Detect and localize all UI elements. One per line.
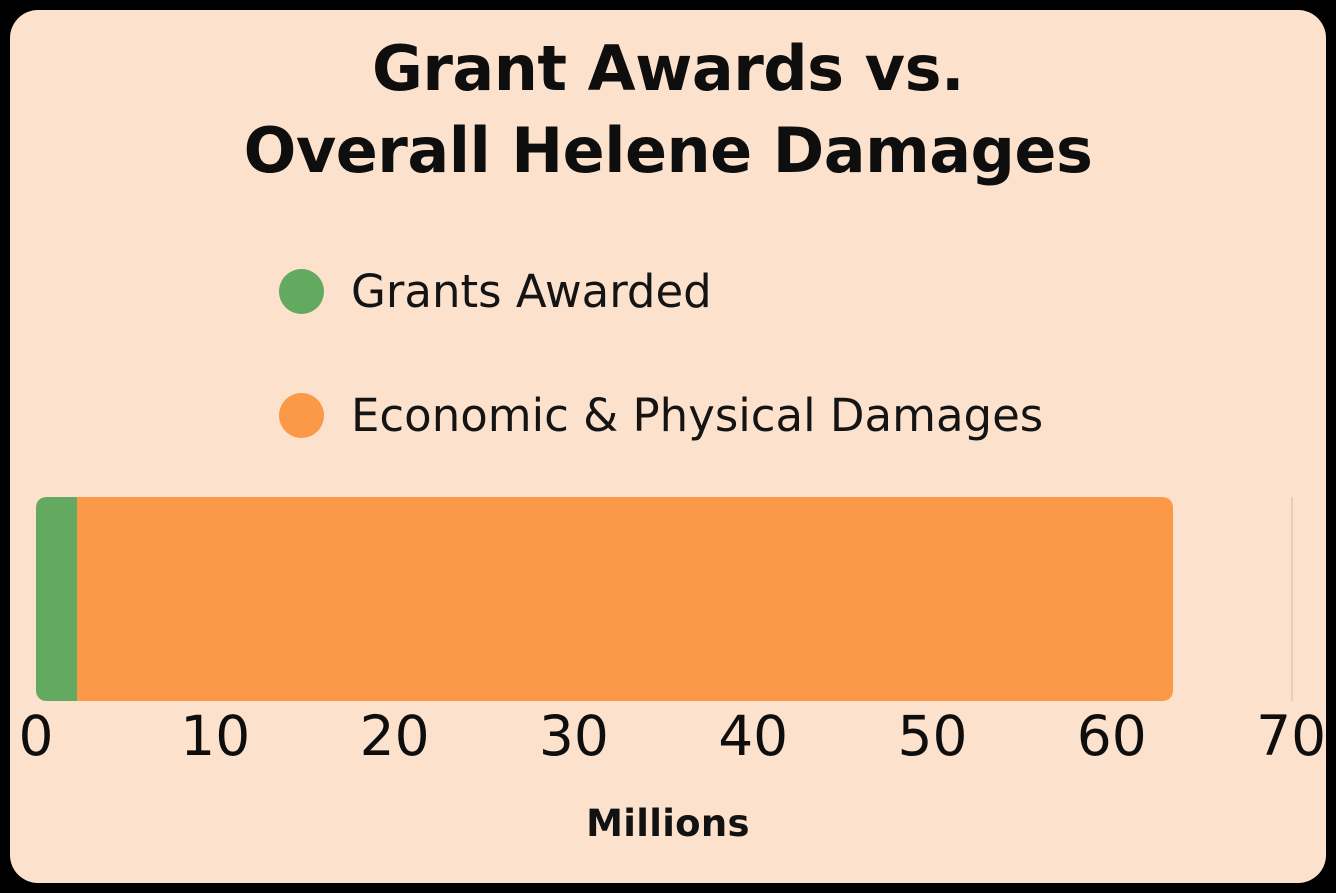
gridline bbox=[1291, 497, 1293, 701]
bar-segment[interactable] bbox=[36, 497, 77, 701]
x-axis-title: Millions bbox=[10, 802, 1326, 845]
bar-segment[interactable] bbox=[77, 497, 1173, 701]
x-tick-label: 50 bbox=[898, 707, 968, 765]
bar-track bbox=[36, 497, 1173, 701]
x-tick-label: 70 bbox=[1256, 707, 1326, 765]
x-tick-label: 20 bbox=[360, 707, 430, 765]
plot-area: 010203040506070 bbox=[10, 10, 1326, 883]
stacked-bar[interactable] bbox=[36, 497, 1173, 701]
chart-panel: Grant Awards vs. Overall Helene Damages … bbox=[10, 10, 1326, 883]
x-tick-label: 0 bbox=[19, 707, 54, 765]
x-tick-label: 30 bbox=[539, 707, 609, 765]
chart-figure: Grant Awards vs. Overall Helene Damages … bbox=[0, 0, 1336, 893]
x-tick-label: 10 bbox=[180, 707, 250, 765]
x-tick-label: 40 bbox=[718, 707, 788, 765]
x-tick-label: 60 bbox=[1077, 707, 1147, 765]
